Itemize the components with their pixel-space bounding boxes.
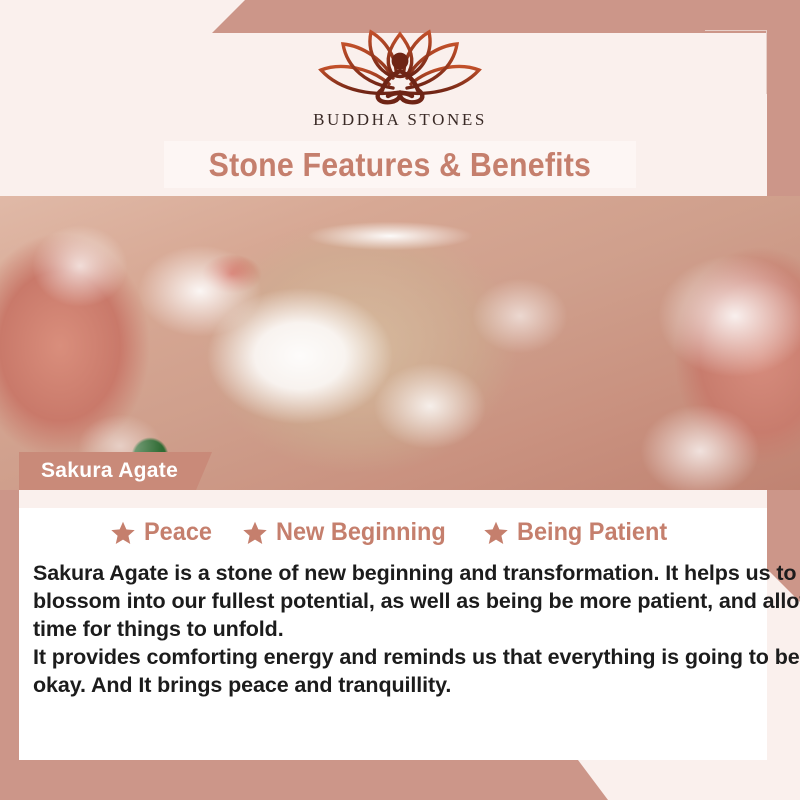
description-line: okay. And It brings peace and tranquilli… [33, 671, 749, 699]
keyword-item: Being Patient [483, 518, 677, 547]
star-icon [110, 520, 136, 546]
stone-photo [0, 196, 800, 490]
description-line: time for things to unfold. [33, 615, 749, 643]
description-line: blossom into our fullest potential, as w… [33, 587, 749, 615]
stone-features-infographic: BUDDHA STONES Stone Features & Benefits … [0, 0, 800, 800]
lotus-meditation-icon [305, 26, 495, 108]
description-line: It provides comforting energy and remind… [33, 643, 749, 671]
description-line: Sakura Agate is a stone of new beginning… [33, 559, 749, 587]
keyword-label: New Beginning [276, 518, 446, 547]
stone-name-label: Sakura Agate [41, 459, 178, 483]
brand-logo: BUDDHA STONES [0, 26, 800, 130]
title-banner: Stone Features & Benefits [164, 141, 636, 188]
keyword-label: Being Patient [517, 518, 667, 547]
stone-name-tag: Sakura Agate [19, 452, 212, 490]
keyword-list: Peace New Beginning Being Patient [19, 518, 767, 547]
stone-photo-highlight [275, 216, 505, 256]
ribbon-bottom-decoration [0, 760, 608, 800]
keyword-label: Peace [144, 518, 212, 547]
star-icon [242, 520, 268, 546]
description-text: Sakura Agate is a stone of new beginning… [19, 559, 767, 699]
keyword-item: New Beginning [242, 518, 457, 547]
page-title: Stone Features & Benefits [209, 146, 592, 184]
content-card: Peace New Beginning Being Patient Sakura… [19, 508, 767, 760]
keyword-item: Peace [110, 518, 216, 547]
star-icon [483, 520, 509, 546]
brand-wordmark: BUDDHA STONES [0, 110, 800, 130]
separator-strip [19, 490, 767, 508]
